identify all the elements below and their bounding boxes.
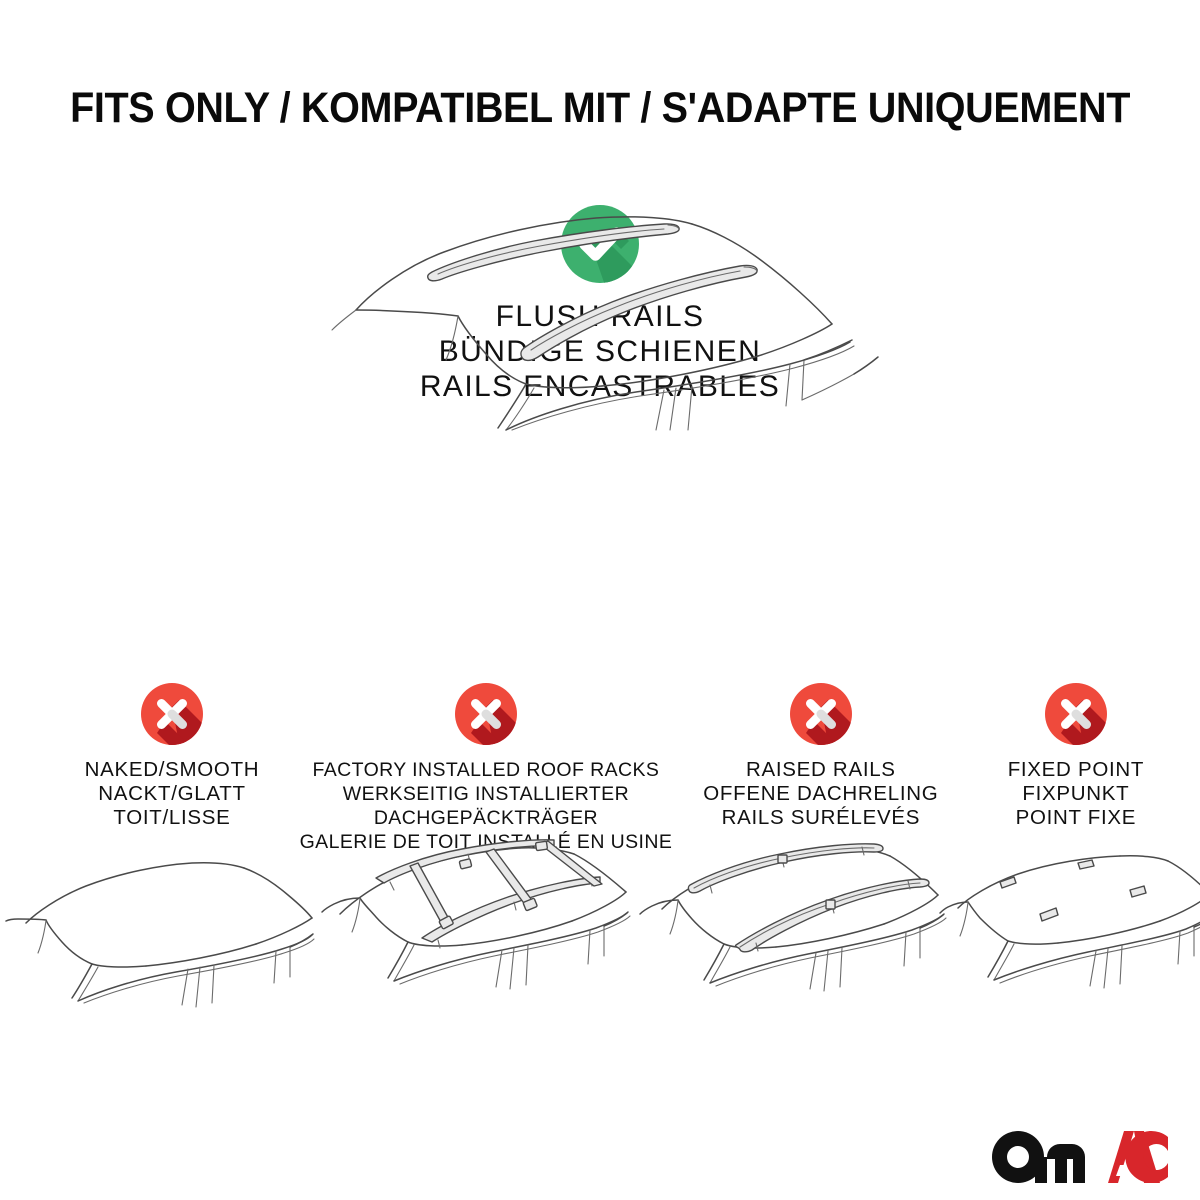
option-naked-smooth-labels: NAKED/SMOOTH NACKT/GLATT TOIT/LISSE xyxy=(85,758,260,830)
option-factory-installed-roof-racks: FACTORY INSTALLED ROOF RACKS WERKSEITIG … xyxy=(304,683,668,854)
car-roof-raised-rails-illustration xyxy=(636,833,961,1033)
option-label-en: FACTORY INSTALLED ROOF RACKS xyxy=(300,758,673,782)
option-label-de: FIXPUNKT xyxy=(1008,782,1144,806)
x-circle-icon xyxy=(1045,683,1107,745)
option-label-en: NAKED/SMOOTH xyxy=(85,758,260,782)
option-label-de: NACKT/GLATT xyxy=(85,782,260,806)
option-label-fr: POINT FIXE xyxy=(1008,806,1144,830)
omac-logo xyxy=(992,1131,1170,1183)
option-label-de: OFFENE DACHRELING xyxy=(703,782,938,806)
page-title-text: FITS ONLY / KOMPATIBEL MIT / S'ADAPTE UN… xyxy=(70,86,1130,131)
car-roof-flush-rails-illustration xyxy=(320,200,880,430)
option-fixed-point: FIXED POINT FIXPUNKT POINT FIXE xyxy=(952,683,1200,830)
car-roof-fixed-point-illustration xyxy=(944,852,1200,1032)
option-label-en: FIXED POINT xyxy=(1008,758,1144,782)
option-raised-rails-labels: RAISED RAILS OFFENE DACHRELING RAILS SUR… xyxy=(703,758,938,830)
x-circle-icon xyxy=(141,683,203,745)
car-roof-factory-crossbars-illustration xyxy=(318,832,648,1032)
page-title: FITS ONLY / KOMPATIBEL MIT / S'ADAPTE UN… xyxy=(0,86,1200,131)
compatibility-infographic: FITS ONLY / KOMPATIBEL MIT / S'ADAPTE UN… xyxy=(0,0,1200,1200)
incompatible-options: NAKED/SMOOTH NACKT/GLATT TOIT/LISSE xyxy=(0,683,1200,854)
car-roof-naked-smooth-illustration xyxy=(10,855,310,1040)
x-circle-icon xyxy=(790,683,852,745)
option-label-fr: TOIT/LISSE xyxy=(85,806,260,830)
option-fixed-point-labels: FIXED POINT FIXPUNKT POINT FIXE xyxy=(1008,758,1144,830)
option-label-en: RAISED RAILS xyxy=(703,758,938,782)
option-label-de-2: DACHGEPÄCKTRÄGER xyxy=(300,806,673,830)
x-circle-icon xyxy=(455,683,517,745)
option-label-de-1: WERKSEITIG INSTALLIERTER xyxy=(300,782,673,806)
option-naked-smooth: NAKED/SMOOTH NACKT/GLATT TOIT/LISSE xyxy=(28,683,316,830)
option-raised-rails: RAISED RAILS OFFENE DACHRELING RAILS SUR… xyxy=(674,683,968,830)
option-label-fr: RAILS SURÉLEVÉS xyxy=(703,806,938,830)
